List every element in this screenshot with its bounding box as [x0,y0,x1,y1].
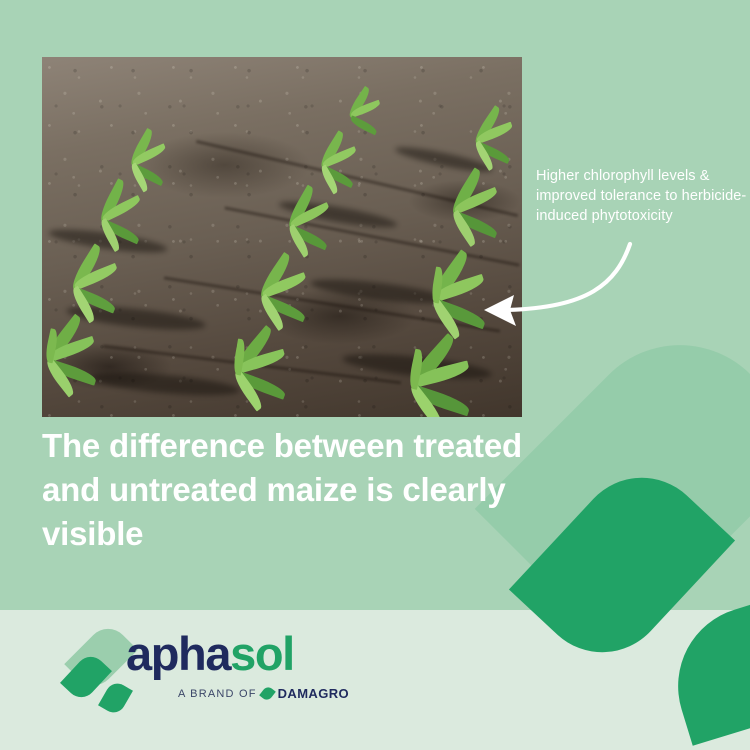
maize-field-photo [42,57,522,417]
logo-leaf-small-icon [98,679,133,716]
maize-plant [352,57,414,117]
aphasol-logo[interactable]: aphasol A BRAND OF DAMAGRO [60,624,335,712]
page-title: The difference between treated and untre… [42,424,562,556]
leaf-logo-icon [60,624,132,710]
callout-text: Higher chlorophyll levels & improved tol… [536,166,748,226]
brand-tagline: A BRAND OF DAMAGRO [178,686,349,701]
logo-wordmark: aphasol [126,630,294,677]
brand-prefix-text: A BRAND OF [178,688,257,700]
maize-plant [134,79,208,165]
poster-canvas: Higher chlorophyll levels & improved tol… [0,0,750,750]
callout-arrow-icon [470,240,640,340]
damagro-brand-text: DAMAGRO [278,686,349,701]
damagro-leaf-icon [259,685,276,702]
logo-wordmark-part-2: sol [230,627,294,680]
logo-wordmark-part-1: apha [126,627,230,680]
maize-plant [478,57,522,143]
